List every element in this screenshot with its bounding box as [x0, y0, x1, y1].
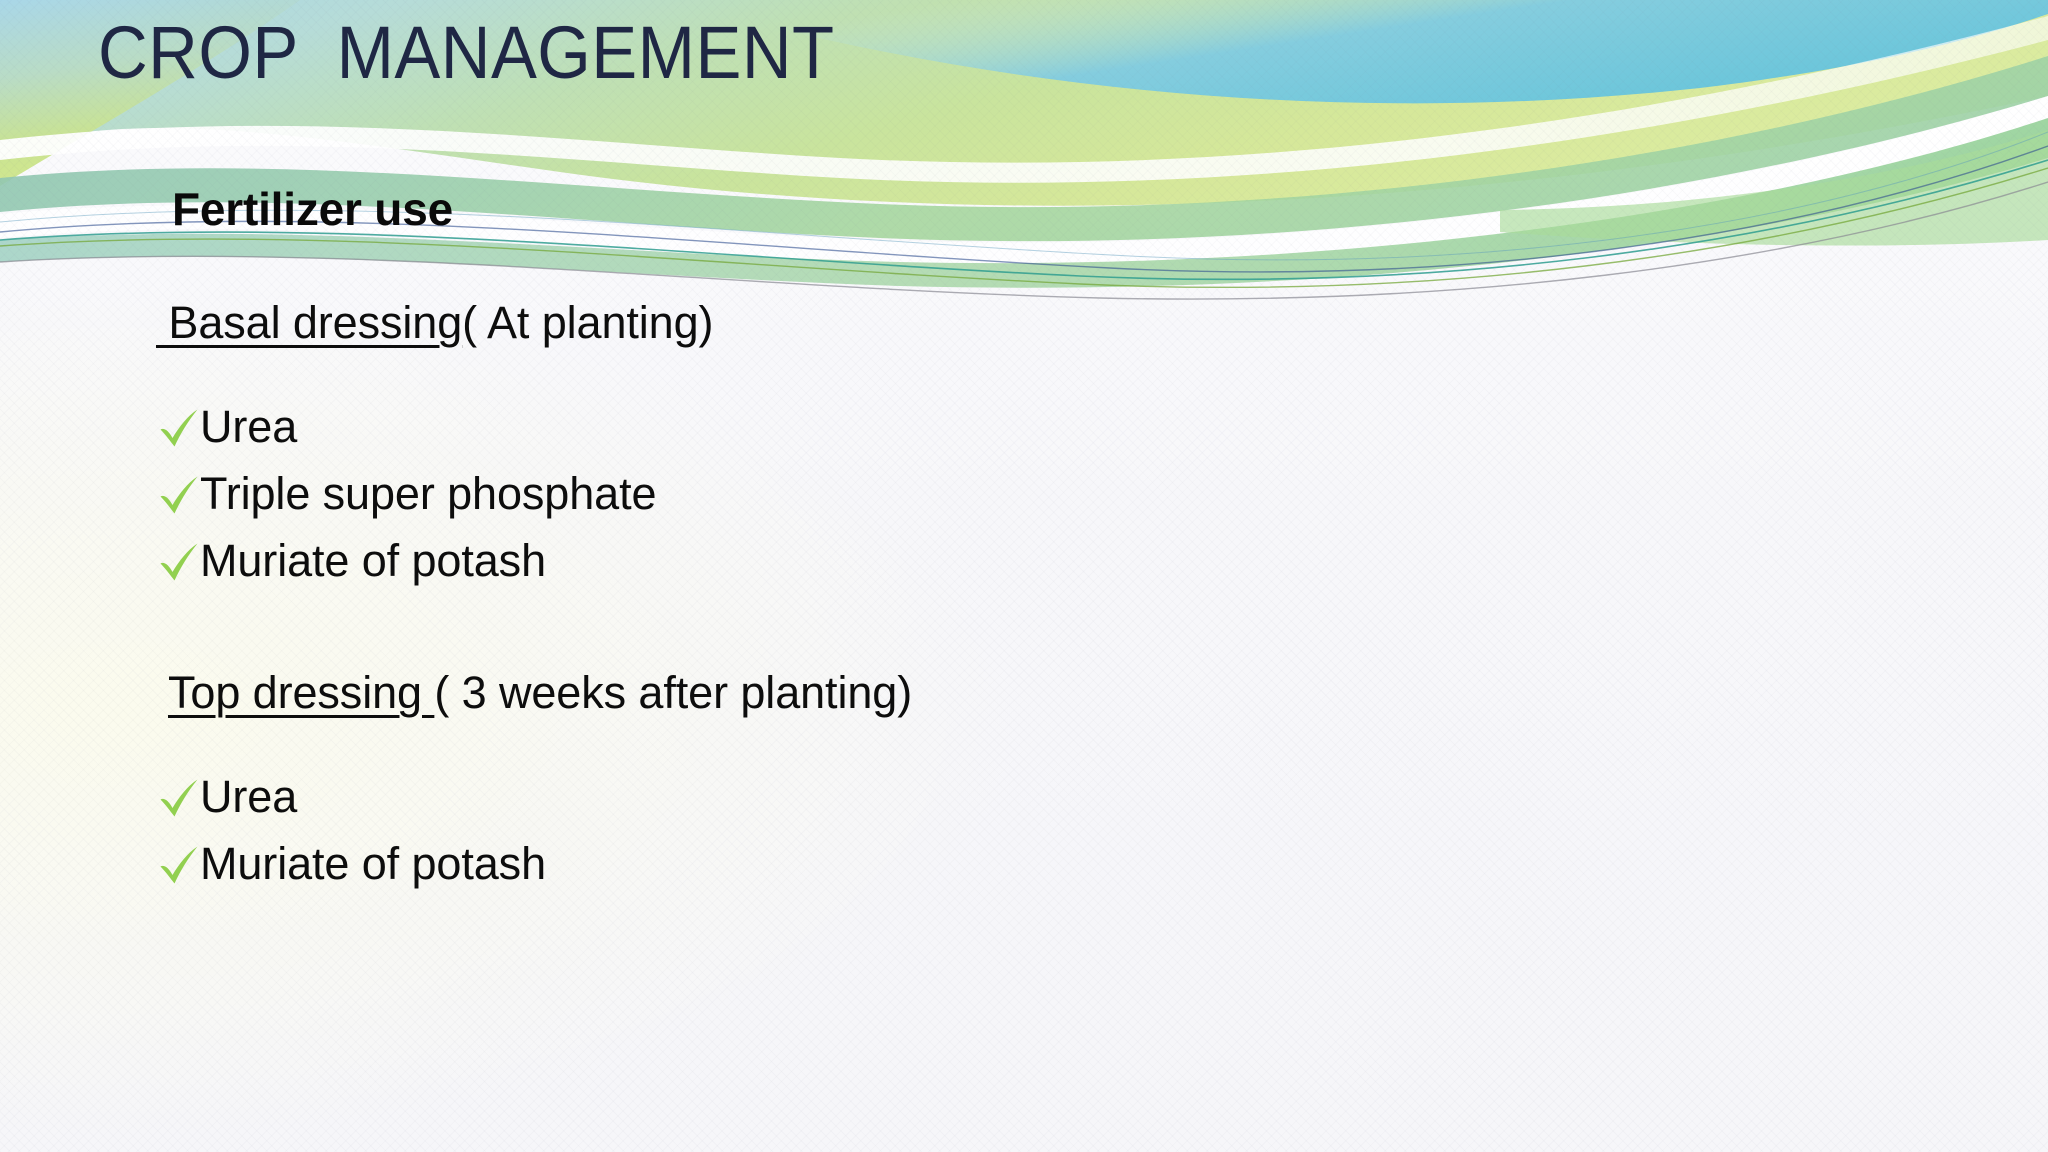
slide-body: Fertilizer use Basal dressing( At planti…	[0, 186, 2048, 905]
section-label-top-rest: ( 3 weeks after planting)	[434, 667, 912, 718]
section-label-top-underlined: Top dressing	[168, 667, 434, 718]
check-mark-icon	[158, 842, 200, 890]
list-item: Muriate of potash	[158, 838, 2048, 905]
slide: CROP MANAGEMENT Fertilizer use Basal dre…	[0, 0, 2048, 1152]
check-mark-icon	[158, 472, 200, 520]
section-label-basal-underlined: Basal dressing	[156, 297, 462, 348]
check-mark-icon	[158, 539, 200, 587]
list-item-label: Muriate of potash	[200, 838, 546, 889]
body-heading: Fertilizer use	[172, 186, 2048, 232]
list-item: Urea	[158, 771, 2048, 838]
spacer	[0, 345, 2048, 401]
section-label-basal-rest: ( At planting)	[462, 297, 713, 348]
list-item: Urea	[158, 401, 2048, 468]
section-label-basal: Basal dressing( At planting)	[156, 300, 2048, 345]
check-mark-icon	[158, 405, 200, 453]
list-item-label: Triple super phosphate	[200, 468, 656, 519]
list-item-label: Muriate of potash	[200, 535, 546, 586]
spacer	[0, 232, 2048, 300]
list-item: Muriate of potash	[158, 535, 2048, 602]
check-mark-icon	[158, 775, 200, 823]
check-list-top: Urea Muriate of potash	[0, 771, 2048, 905]
spacer	[0, 602, 2048, 670]
list-item-label: Urea	[200, 771, 297, 822]
list-item: Triple super phosphate	[158, 468, 2048, 535]
section-label-top: Top dressing ( 3 weeks after planting)	[168, 670, 2048, 715]
page-title: CROP MANAGEMENT	[98, 14, 835, 92]
spacer	[0, 715, 2048, 771]
check-list-basal: Urea Triple super phosphate Muriate of p…	[0, 401, 2048, 602]
list-item-label: Urea	[200, 401, 297, 452]
